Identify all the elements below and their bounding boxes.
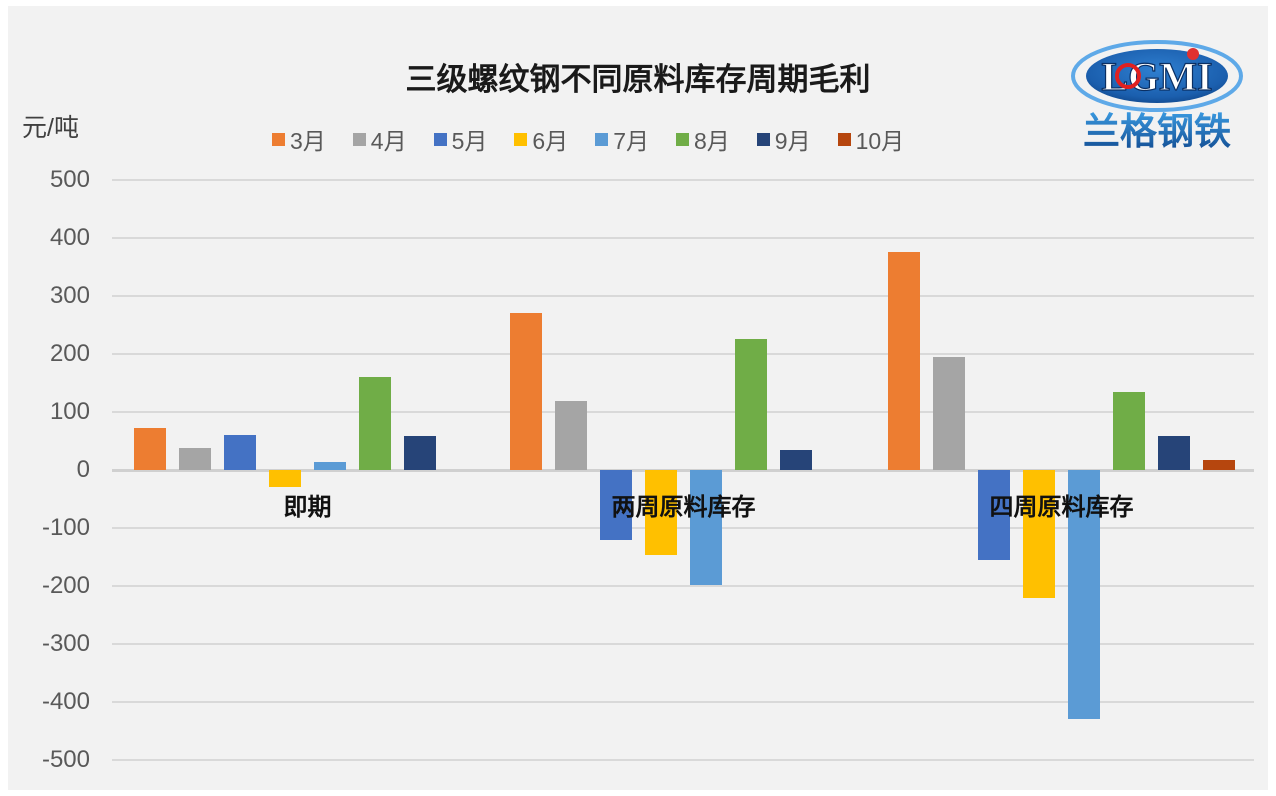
y-axis-tick-label: 100 (0, 398, 90, 426)
logo-wordmark: 兰格钢铁 (1083, 111, 1231, 153)
legend-item-9月[interactable]: 9月 (757, 122, 811, 156)
bar-group (510, 180, 857, 760)
bar-3月-两周原料库存[interactable] (510, 313, 542, 470)
legend-swatch-icon (595, 133, 608, 146)
y-axis-tick-label: -400 (0, 688, 90, 716)
page-margin-top (0, 0, 1276, 6)
y-axis-unit-label: 元/吨 (22, 108, 79, 144)
bar-3月-四周原料库存[interactable] (888, 252, 920, 470)
bar-10月-四周原料库存[interactable] (1203, 460, 1235, 470)
legend-label: 6月 (532, 122, 568, 156)
bar-4月-即期[interactable] (179, 448, 211, 470)
y-axis-tick-label: -500 (0, 746, 90, 774)
legend-label: 5月 (452, 122, 488, 156)
bar-8月-四周原料库存[interactable] (1113, 392, 1145, 470)
page-margin-bottom (0, 790, 1276, 796)
y-axis-tick-label: 400 (0, 224, 90, 252)
page-margin-right (1268, 0, 1276, 796)
lgmi-logo: LGMI 兰格钢铁 (1068, 32, 1246, 158)
legend-label: 7月 (613, 122, 649, 156)
chart-legend: 3月4月5月6月7月8月9月10月 (272, 122, 1072, 156)
legend-item-6月[interactable]: 6月 (514, 122, 568, 156)
x-axis-category-label: 两周原料库存 (612, 487, 756, 522)
bar-9月-即期[interactable] (404, 436, 436, 470)
legend-swatch-icon (676, 133, 689, 146)
bar-9月-两周原料库存[interactable] (780, 450, 812, 470)
y-axis-tick-label: -200 (0, 572, 90, 600)
bar-group (134, 180, 481, 760)
y-axis-tick-label: -300 (0, 630, 90, 658)
legend-label: 8月 (694, 122, 730, 156)
legend-label: 10月 (856, 122, 905, 156)
legend-swatch-icon (434, 133, 447, 146)
y-axis-tick-label: 300 (0, 282, 90, 310)
bar-7月-即期[interactable] (314, 462, 346, 470)
y-axis-tick-label: 0 (0, 456, 90, 484)
bar-4月-四周原料库存[interactable] (933, 357, 965, 470)
bar-group (888, 180, 1235, 760)
legend-swatch-icon (353, 133, 366, 146)
lgmi-logo-svg: LGMI 兰格钢铁 (1068, 32, 1246, 158)
bar-8月-两周原料库存[interactable] (735, 339, 767, 470)
legend-label: 9月 (775, 122, 811, 156)
legend-swatch-icon (757, 133, 770, 146)
x-axis-category-label: 四周原料库存 (990, 487, 1134, 522)
bar-5月-即期[interactable] (224, 435, 256, 470)
legend-item-3月[interactable]: 3月 (272, 122, 326, 156)
x-axis-category-label: 即期 (284, 487, 332, 522)
bar-9月-四周原料库存[interactable] (1158, 436, 1190, 470)
legend-swatch-icon (272, 133, 285, 146)
plot-area: 5004003002001000-100-200-300-400-500即期两周… (112, 180, 1254, 760)
chart-container: 三级螺纹钢不同原料库存周期毛利 元/吨 LGMI 兰格钢铁 3月 (0, 0, 1276, 796)
legend-swatch-icon (838, 133, 851, 146)
legend-item-10月[interactable]: 10月 (838, 122, 905, 156)
bar-3月-即期[interactable] (134, 428, 166, 470)
legend-label: 4月 (371, 122, 407, 156)
y-axis-tick-label: 200 (0, 340, 90, 368)
legend-swatch-icon (514, 133, 527, 146)
bar-4月-两周原料库存[interactable] (555, 401, 587, 470)
bar-6月-即期[interactable] (269, 470, 301, 487)
y-axis-tick-label: -100 (0, 514, 90, 542)
legend-label: 3月 (290, 122, 326, 156)
legend-item-8月[interactable]: 8月 (676, 122, 730, 156)
legend-item-7月[interactable]: 7月 (595, 122, 649, 156)
legend-item-4月[interactable]: 4月 (353, 122, 407, 156)
y-axis-tick-label: 500 (0, 166, 90, 194)
legend-item-5月[interactable]: 5月 (434, 122, 488, 156)
bar-8月-即期[interactable] (359, 377, 391, 470)
